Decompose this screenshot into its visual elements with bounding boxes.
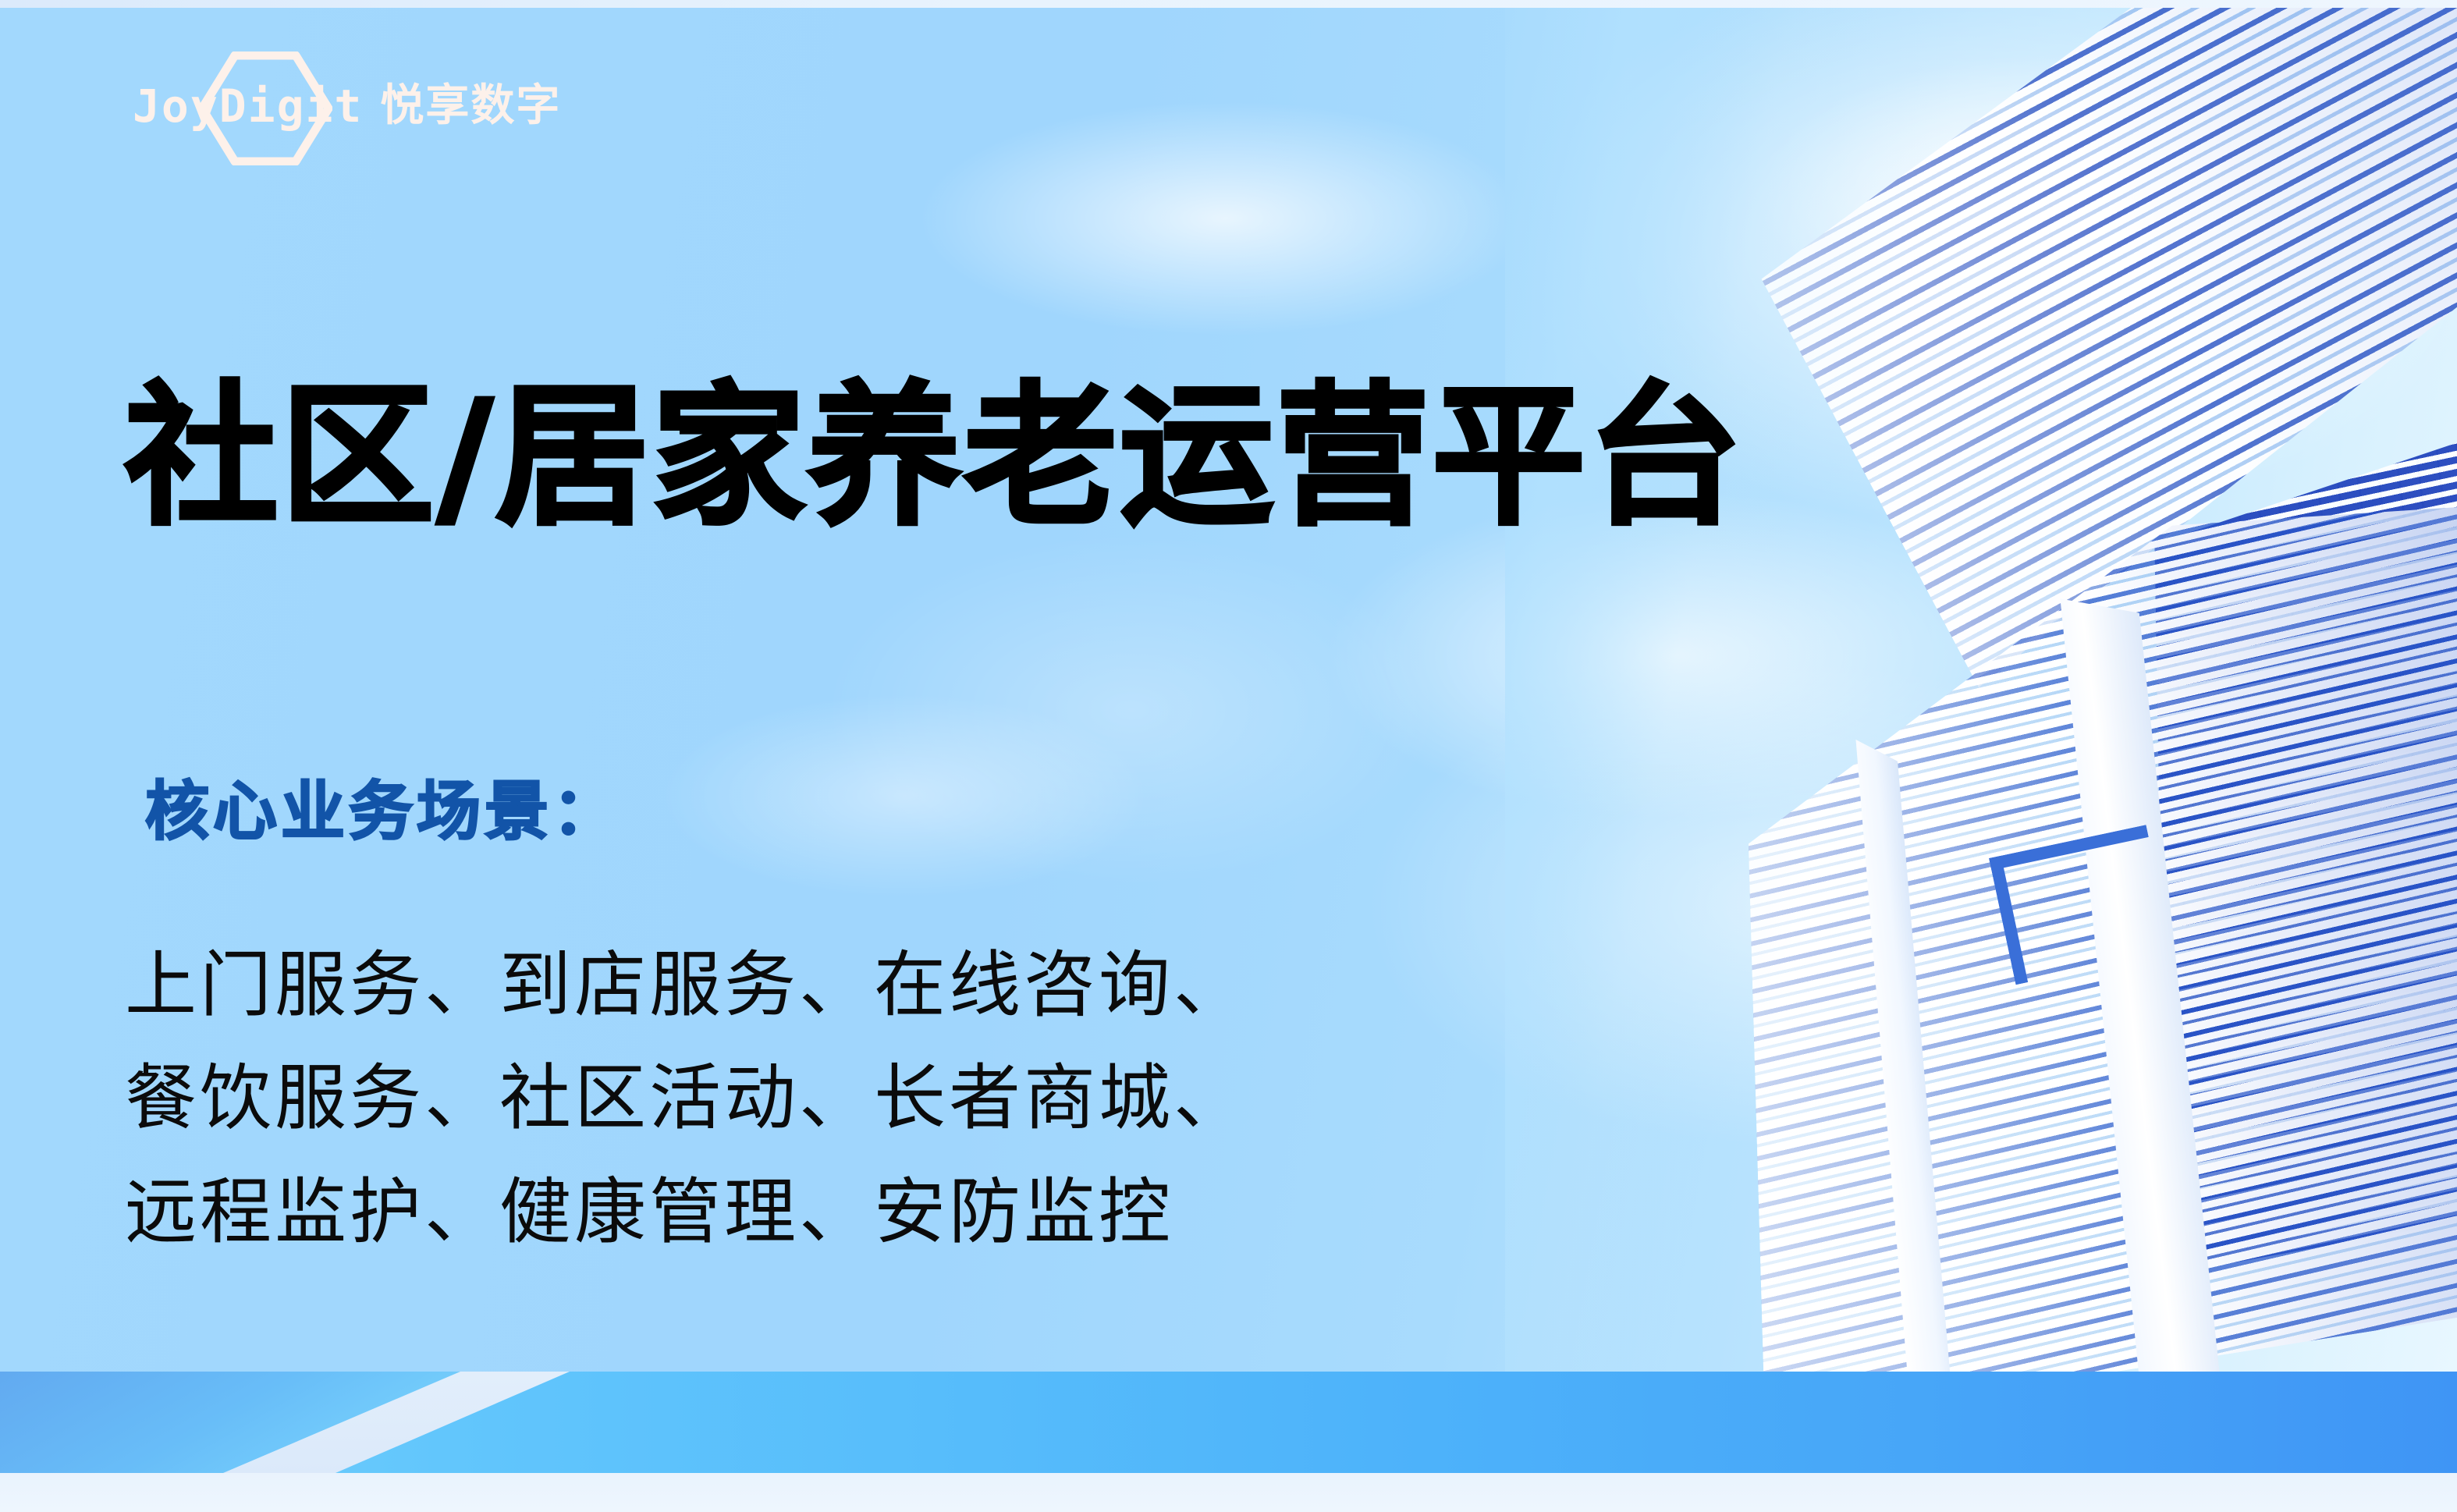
cloud-wisp-icon — [1756, 55, 2349, 335]
brand-latin-name: JoyDigit — [133, 83, 363, 129]
cloud-wisp-icon — [921, 101, 1529, 335]
scenario-line: 远程监护、健康管理、安防监控 — [125, 1155, 1248, 1269]
brand-chinese-name: 悦享数字 — [380, 84, 561, 128]
brand-wordmark: JoyDigit 悦享数字 — [133, 75, 679, 137]
scenario-line: 上门服务、到店服务、在线咨询、 — [125, 928, 1248, 1042]
top-edge-strip — [0, 0, 2457, 8]
scenario-list: 上门服务、到店服务、在线咨询、 餐饮服务、社区活动、长者商城、 远程监护、健康管… — [125, 928, 1248, 1269]
footer-decoration — [0, 1372, 2457, 1512]
page-title: 社区/居家养老运营平台 — [125, 372, 1745, 544]
slide-canvas: JoyDigit 悦享数字 社区/居家养老运营平台 核心业务场景： 上门服务、到… — [0, 0, 2457, 1512]
brand-logo[interactable]: JoyDigit 悦享数字 — [133, 55, 679, 164]
section-heading: 核心业务场景： — [145, 780, 620, 844]
cloud-wisp-icon — [663, 694, 1147, 897]
scenario-line: 餐饮服务、社区活动、长者商城、 — [125, 1042, 1248, 1155]
